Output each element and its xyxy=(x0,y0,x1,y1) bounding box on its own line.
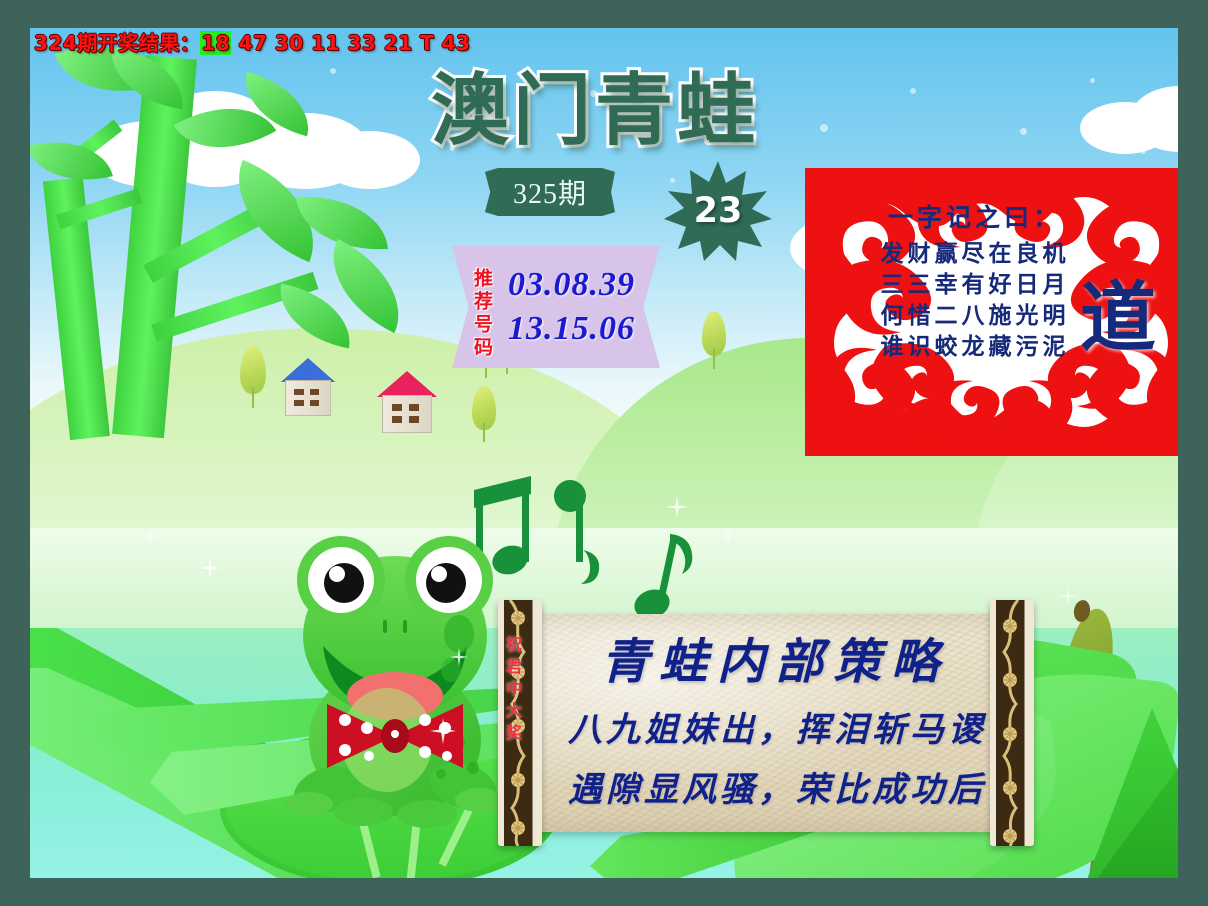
mini-tree-5 xyxy=(472,386,496,442)
result-numbers: 47 30 11 33 21 T 43 xyxy=(239,31,471,55)
scroll-line-1: 八九姐妹出，挥泪斩马谡 xyxy=(530,702,1024,751)
poster-root: 324期开奖结果：18 47 30 11 33 21 T 43 澳门青蛙 325… xyxy=(0,0,1208,906)
recommend-label: 推荐号码 xyxy=(470,268,496,360)
lottery-result-text: 324期开奖结果：18 47 30 11 33 21 T 43 xyxy=(34,28,470,56)
starburst-number: 23 xyxy=(664,161,772,261)
poem-head: 一字记之曰： xyxy=(825,198,1125,234)
scroll-rod-text: 祝君中大奖 xyxy=(504,636,524,746)
mini-tree-4 xyxy=(240,346,266,408)
scroll-line-2: 遇隙显风骚，荣比成功后 xyxy=(530,762,1024,811)
house-red-roof xyxy=(382,371,432,433)
recommend-line-2: 13.15.06 xyxy=(508,310,635,348)
recommend-line-1: 03.08.39 xyxy=(508,266,635,304)
result-prefix: 324期开奖结果： xyxy=(34,31,200,55)
strategy-scroll: 祝君中大奖 xyxy=(478,596,1068,856)
scroll-title: 青蛙内部策略 xyxy=(540,622,1010,692)
lottery-result-bar: 324期开奖结果：18 47 30 11 33 21 T 43 xyxy=(30,28,1178,54)
issue-banner: 325期 xyxy=(485,168,615,216)
house-blue-roof xyxy=(285,358,331,416)
result-highlight-number: 18 xyxy=(200,31,231,55)
page-title: 澳门青蛙 xyxy=(360,70,830,152)
poem-big-character: 道 xyxy=(1080,256,1156,366)
poster-canvas: 324期开奖结果：18 47 30 11 33 21 T 43 澳门青蛙 325… xyxy=(30,28,1178,878)
mini-tree-6 xyxy=(702,311,726,369)
